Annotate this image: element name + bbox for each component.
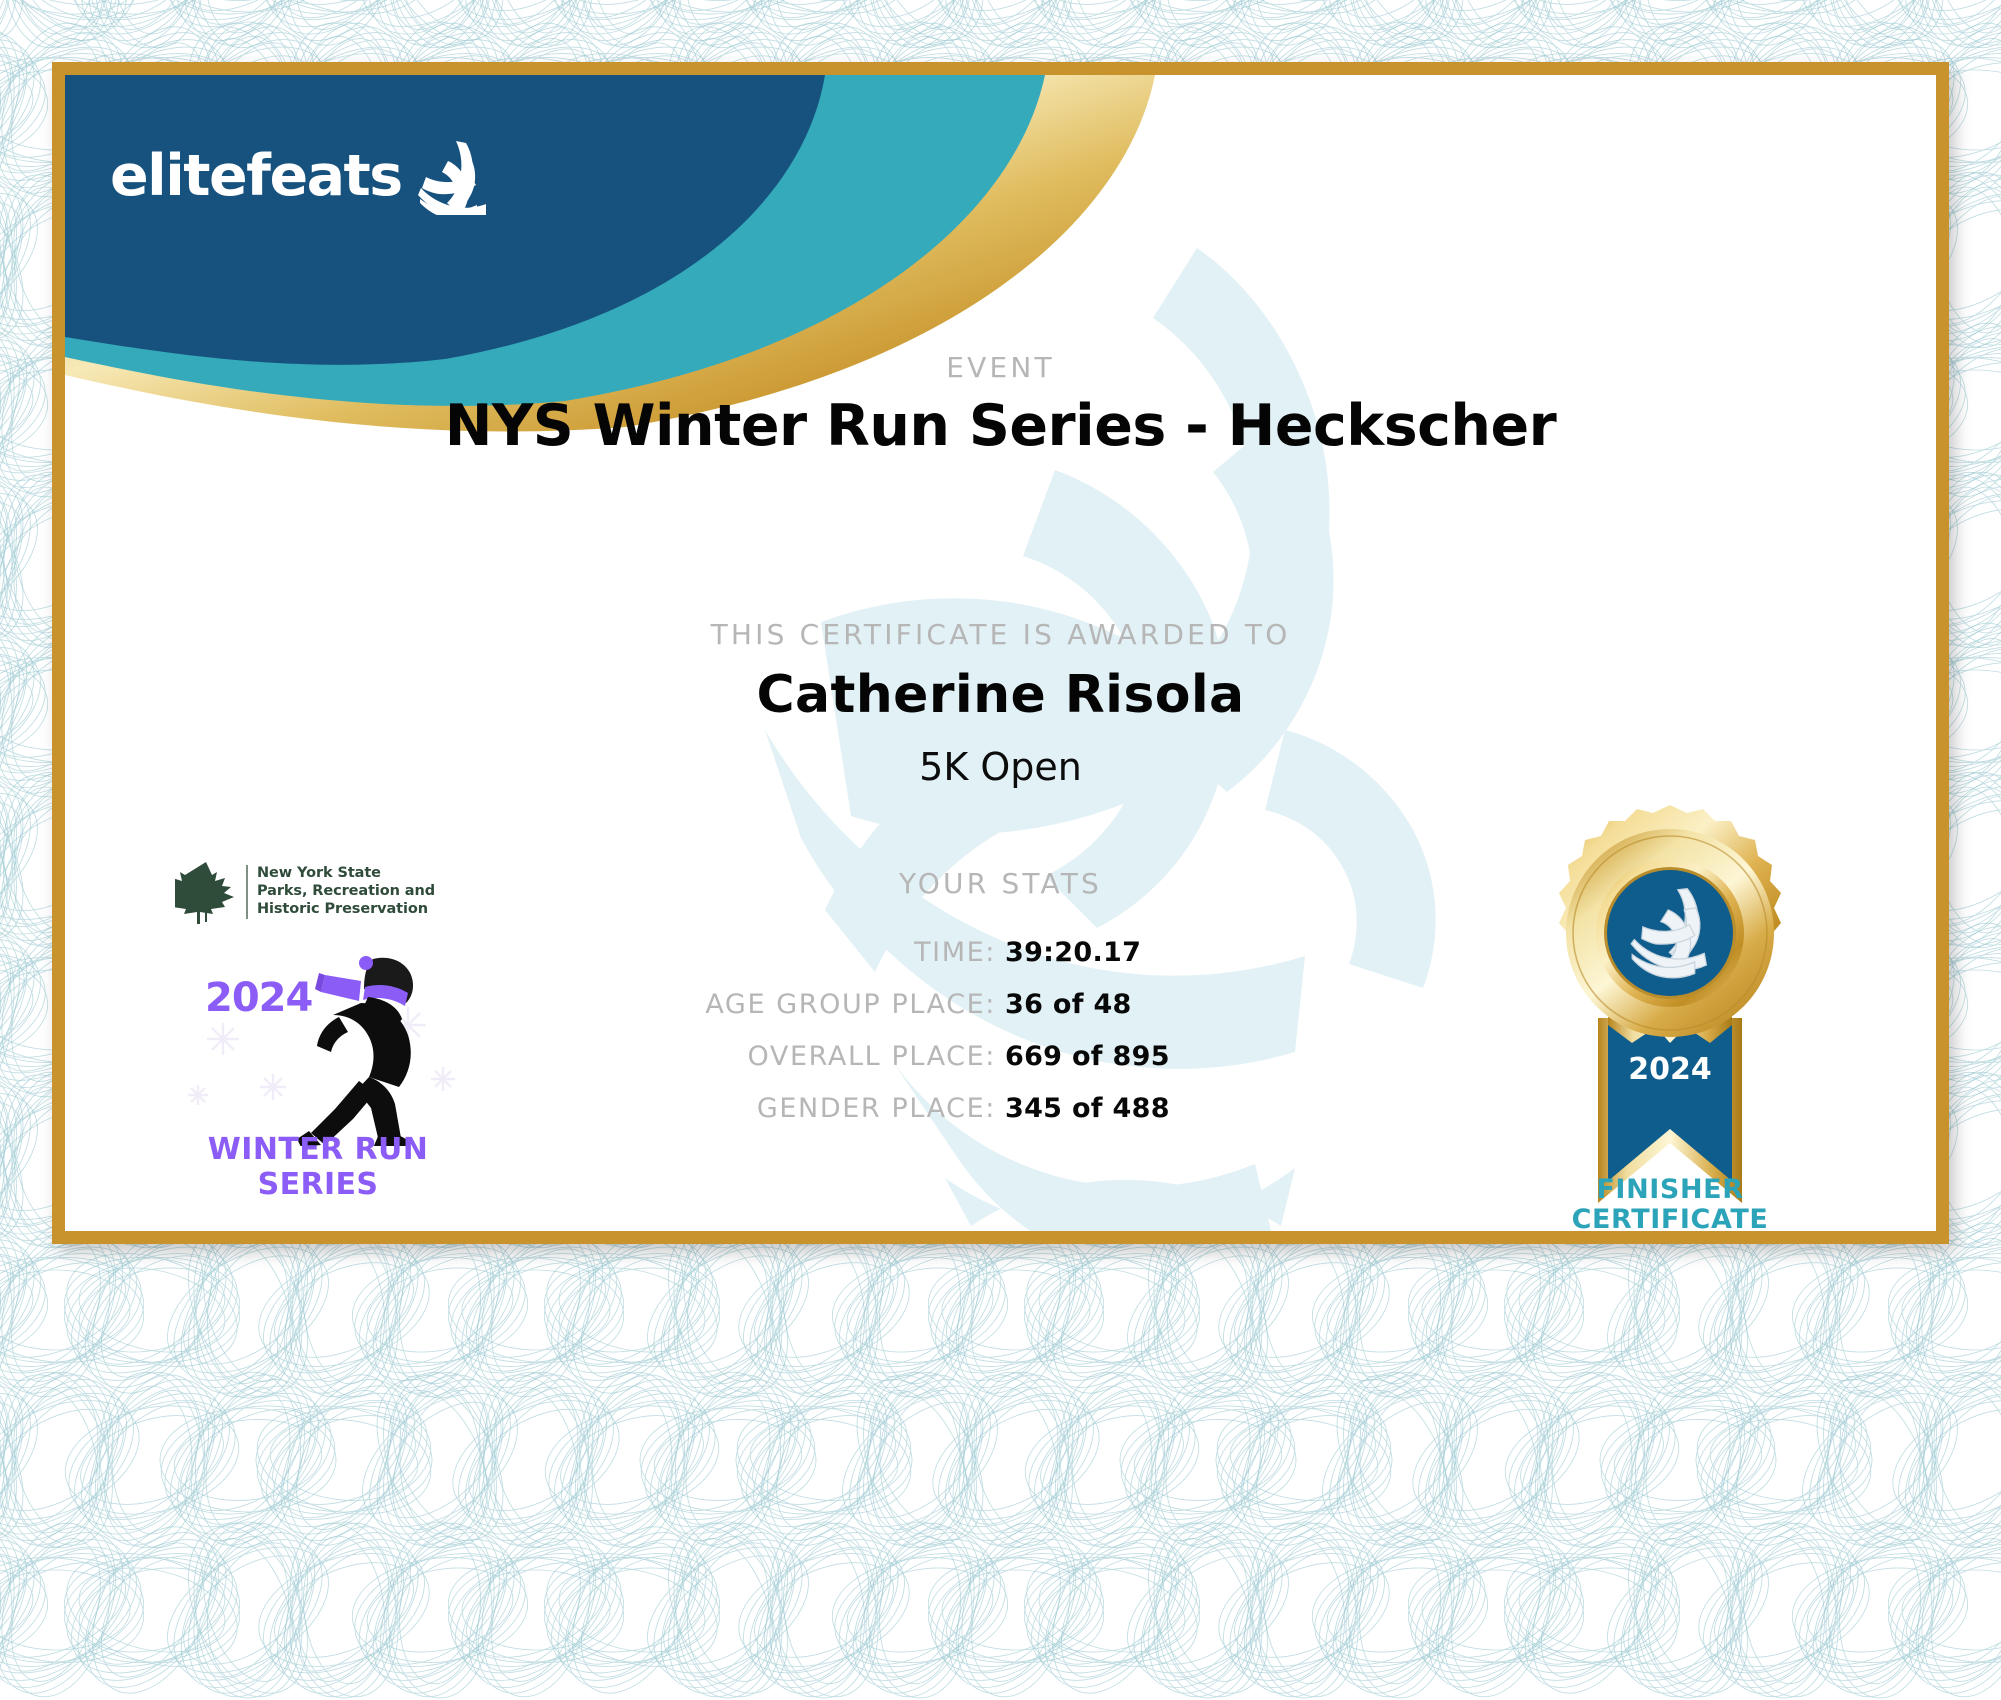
winter-run-series-caption: WINTER RUN SERIES: [153, 1132, 483, 1202]
event-label: EVENT: [65, 351, 1936, 384]
recipient-name: Catherine Risola: [65, 665, 1936, 725]
medal-ribbon-year: 2024: [1628, 1052, 1712, 1087]
nys-logo-divider: [246, 865, 248, 919]
certificate-page: elitefeats EVENT NYS Winter Run Series -…: [0, 0, 2001, 1700]
awarded-to-label: THIS CERTIFICATE IS AWARDED TO: [65, 618, 1936, 651]
medal-caption-line-2: CERTIFICATE: [1495, 1205, 1845, 1231]
medal-caption: FINISHER CERTIFICATE: [1495, 1175, 1845, 1231]
medal-caption-line-1: FINISHER: [1495, 1175, 1845, 1205]
nys-line-2: Parks, Recreation and: [257, 883, 435, 901]
nys-parks-logo: New York State Parks, Recreation and His…: [175, 860, 495, 924]
header-banner-art: [65, 75, 1165, 445]
running-silhouette-icon: [265, 951, 465, 1146]
event-title: NYS Winter Run Series - Heckscher: [65, 393, 1936, 459]
winter-run-series-logo: 2024: [153, 947, 483, 1187]
brand-wordmark: elitefeats: [110, 143, 402, 209]
nys-parks-text: New York State Parks, Recreation and His…: [257, 865, 435, 919]
nys-line-1: New York State: [257, 865, 435, 883]
certificate-card: elitefeats EVENT NYS Winter Run Series -…: [52, 62, 1949, 1244]
nys-line-3: Historic Preservation: [257, 901, 435, 919]
winged-foot-icon: [408, 137, 486, 215]
maple-leaf-icon: [175, 860, 237, 924]
brand-logo: elitefeats: [110, 137, 486, 215]
division-label: 5K Open: [65, 745, 1936, 789]
award-rosette-icon: 2024: [1520, 803, 1820, 1223]
